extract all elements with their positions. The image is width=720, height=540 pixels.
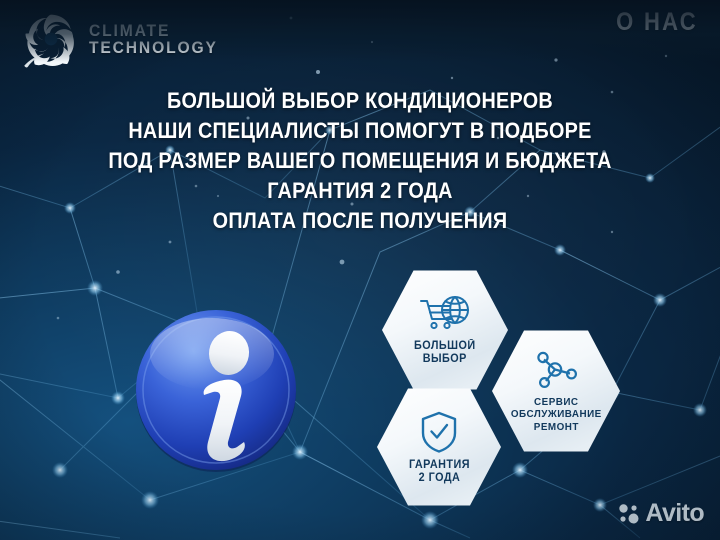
feature-caption-line: ВЫБОР [414,353,476,366]
fan-spiral-logo-icon [22,10,80,68]
avito-dots-icon [618,503,640,525]
feature-caption-line: РЕМОНТ [511,421,602,434]
brand-line-1: CLIMATE [89,22,218,39]
background-vignette [0,0,720,540]
feature-caption-line: 2 ГОДА [408,472,469,485]
feature-caption-line: БОЛЬШОЙ [414,340,476,353]
headline-line: ГАРАНТИЯ 2 ГОДА [36,176,684,206]
feature-caption-line: ОБСЛУЖИВАНИЕ [511,408,602,421]
headline-line: ПОД РАЗМЕР ВАШЕГО ПОМЕЩЕНИЯ И БЮДЖЕТА [36,146,684,176]
promo-banner: CLIMATE TECHNOLOGY О НАС БОЛЬШОЙ ВЫБОР К… [0,0,720,540]
headline-line: ОПЛАТА ПОСЛЕ ПОЛУЧЕНИЯ [36,206,684,236]
information-icon [132,306,300,474]
headline-block: БОЛЬШОЙ ВЫБОР КОНДИЦИОНЕРОВ НАШИ СПЕЦИАЛ… [0,86,720,236]
brand-logo: CLIMATE TECHNOLOGY [22,8,222,70]
feature-caption: БОЛЬШОЙ ВЫБОР [414,340,476,366]
feature-caption: СЕРВИС ОБСЛУЖИВАНИЕ РЕМОНТ [511,396,602,434]
brand-wordmark: CLIMATE TECHNOLOGY [89,22,229,57]
feature-caption-line: ГАРАНТИЯ [408,459,469,472]
network-nodes-icon [533,349,579,391]
shopping-cart-globe-icon [419,295,471,335]
headline-line: НАШИ СПЕЦИАЛИСТЫ ПОМОГУТ В ПОДБОРЕ [36,116,684,146]
page-title: О НАС [616,8,698,37]
avito-wordmark: Avito [645,499,704,528]
brand-line-2: TECHNOLOGY [89,39,218,56]
avito-watermark: Avito [618,499,704,528]
feature-caption-line: СЕРВИС [511,396,602,409]
headline-line: БОЛЬШОЙ ВЫБОР КОНДИЦИОНЕРОВ [36,86,684,116]
feature-caption: ГАРАНТИЯ 2 ГОДА [408,459,469,485]
shield-check-icon [419,410,459,454]
